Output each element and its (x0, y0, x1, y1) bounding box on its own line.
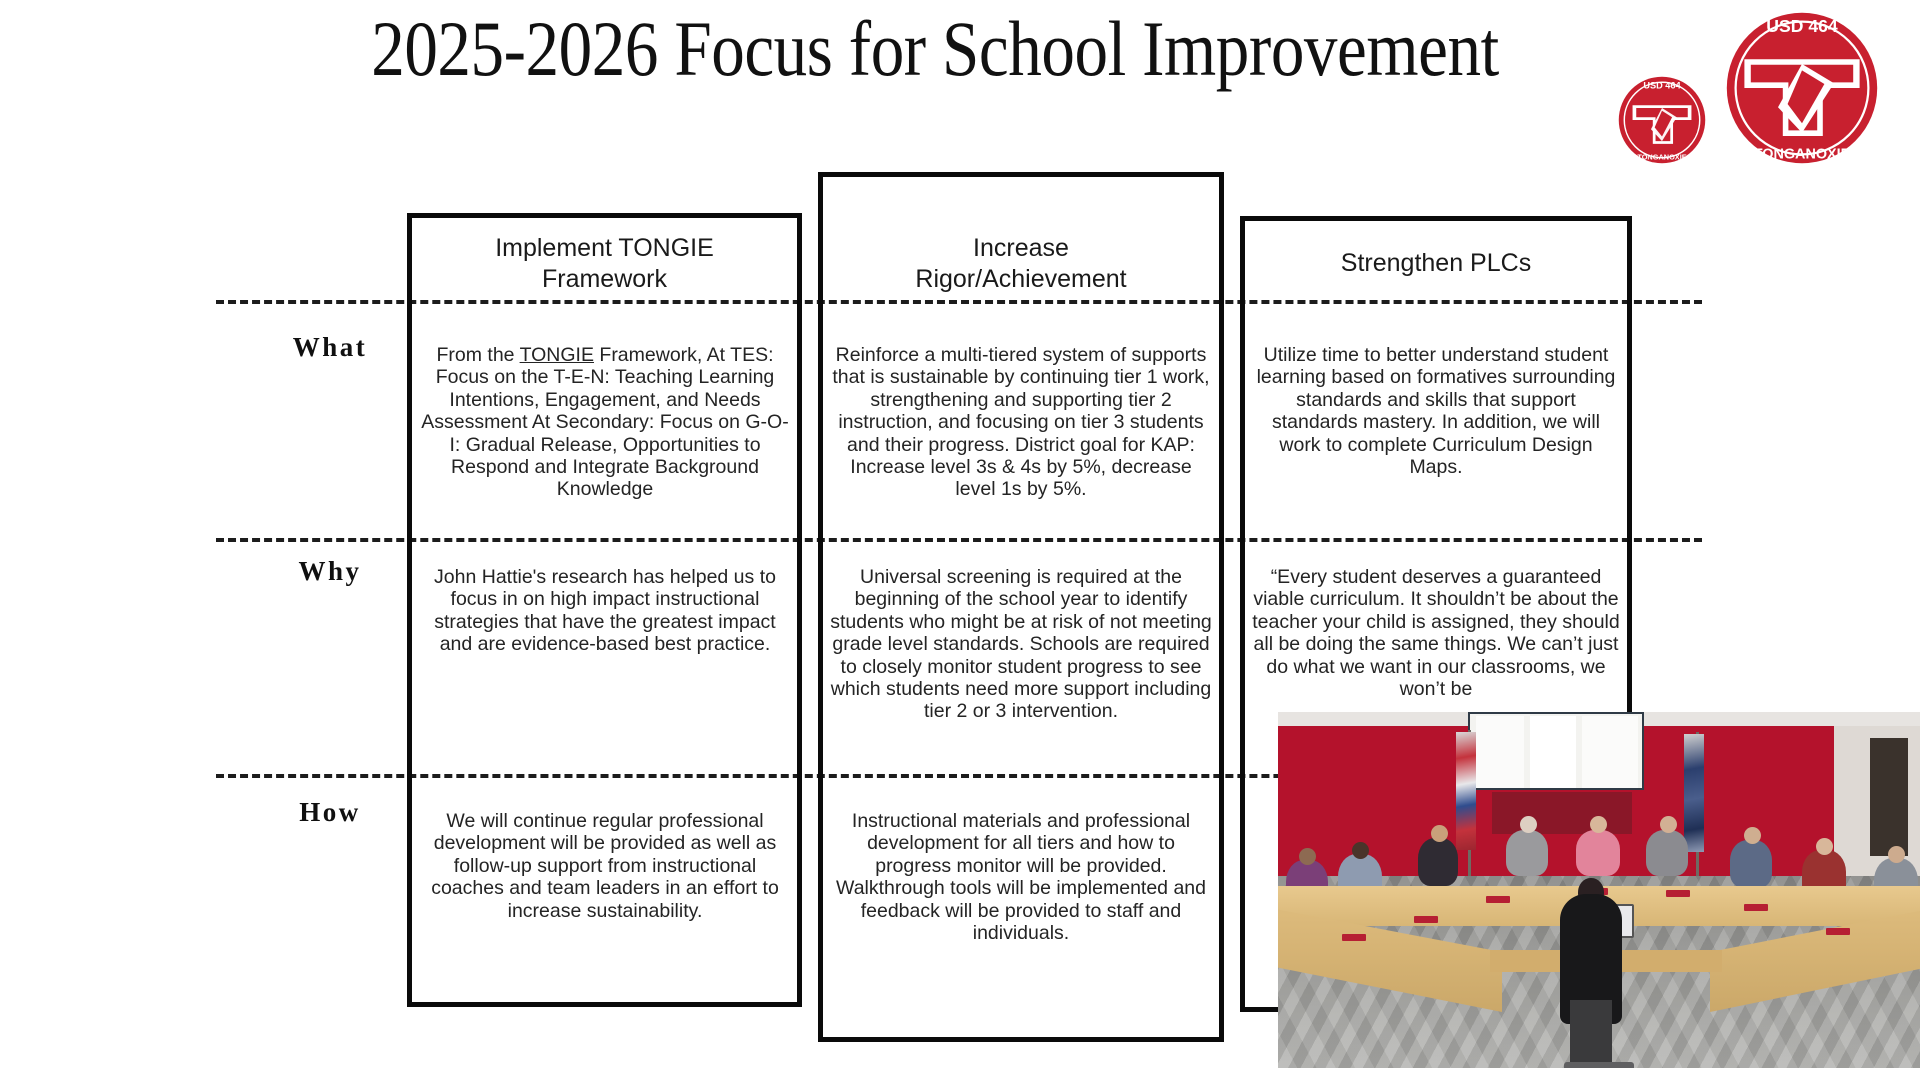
cell-why-col1: John Hattie's research has helped us to … (430, 566, 780, 656)
video-board-member-1-head (1299, 848, 1316, 865)
usd-464-tonganoxie-logo-large-icon: USD 464 TONGANOXIE (1722, 8, 1882, 168)
cell-why-col3: “Every student deserves a guaranteed via… (1252, 566, 1620, 700)
video-board-member-6 (1646, 830, 1688, 876)
video-board-member-5 (1576, 830, 1620, 876)
column-header-col2-line1: Increase (818, 233, 1224, 264)
video-board-member-4 (1506, 830, 1548, 876)
cell-what-col3: Utilize time to better understand studen… (1252, 344, 1620, 478)
video-board-member-4-head (1520, 816, 1537, 833)
video-board-member-7-head (1744, 827, 1761, 844)
cell-how-col2: Instructional materials and professional… (830, 810, 1212, 944)
video-screen-panel-middle (1530, 716, 1576, 788)
column-header-col2-line2: Rigor/Achievement (818, 264, 1224, 295)
row-label-how: How (240, 797, 420, 828)
board-meeting-video-overlay[interactable] (1278, 712, 1920, 1068)
column-header-col1: Implement TONGIE Framework (407, 233, 802, 295)
video-nameplate (1342, 934, 1366, 941)
column-header-col3: Strengthen PLCs (1240, 248, 1632, 279)
video-screen-panel-left (1476, 716, 1524, 788)
video-podium-cart (1564, 1062, 1634, 1068)
video-nameplate (1414, 916, 1438, 923)
video-board-member-3-head (1431, 825, 1448, 842)
usd-464-tonganoxie-logo-small-icon: USD 464 TONGANOXIE (1616, 74, 1708, 166)
cell-what-col1-underlined: TONGIE (520, 344, 594, 366)
video-board-member-2-head (1352, 842, 1369, 859)
video-nameplate (1826, 928, 1850, 935)
cell-how-col1: We will continue regular professional de… (425, 810, 785, 922)
video-board-member-5-head (1590, 816, 1607, 833)
video-board-member-7 (1730, 840, 1772, 888)
cell-what-col1-pre: From the (436, 344, 519, 366)
video-us-flag (1456, 732, 1476, 850)
svg-text:USD 464: USD 464 (1766, 16, 1838, 36)
video-doorway (1870, 738, 1908, 856)
video-board-member-6-head (1660, 816, 1677, 833)
page-title: 2025-2026 Focus for School Improvement (363, 6, 1507, 92)
cell-what-col1: From the TONGIE Framework, At TES: Focus… (420, 344, 790, 501)
video-nameplate (1666, 890, 1690, 897)
video-board-member-3 (1418, 838, 1458, 886)
cell-why-col2: Universal screening is required at the b… (830, 566, 1212, 723)
video-board-member-8-head (1816, 838, 1833, 855)
video-wall-banner (1492, 792, 1632, 834)
column-header-col1-line2: Framework (407, 264, 802, 295)
column-header-col1-line1: Implement TONGIE (407, 233, 802, 264)
video-presenter-legs (1570, 1000, 1612, 1068)
cell-what-col2: Reinforce a multi-tiered system of suppo… (830, 344, 1212, 501)
video-projector-screen (1468, 712, 1644, 790)
video-state-flag (1684, 734, 1704, 852)
svg-text:USD 464: USD 464 (1643, 81, 1681, 91)
slide-canvas: 2025-2026 Focus for School Improvement U… (0, 0, 1920, 1080)
column-header-col2: Increase Rigor/Achievement (818, 233, 1224, 295)
row-label-what: What (240, 332, 420, 363)
row-label-why: Why (240, 556, 420, 587)
svg-text:TONGANOXIE: TONGANOXIE (1637, 153, 1686, 162)
column-header-col3-line1: Strengthen PLCs (1240, 248, 1632, 279)
cell-what-col1-post: Framework, At TES: Focus on the T-E-N: T… (421, 344, 788, 500)
video-nameplate (1744, 904, 1768, 911)
svg-text:TONGANOXIE: TONGANOXIE (1754, 146, 1851, 162)
video-board-member-9-head (1888, 846, 1905, 863)
video-screen-panel-right (1582, 716, 1638, 788)
video-nameplate (1486, 896, 1510, 903)
